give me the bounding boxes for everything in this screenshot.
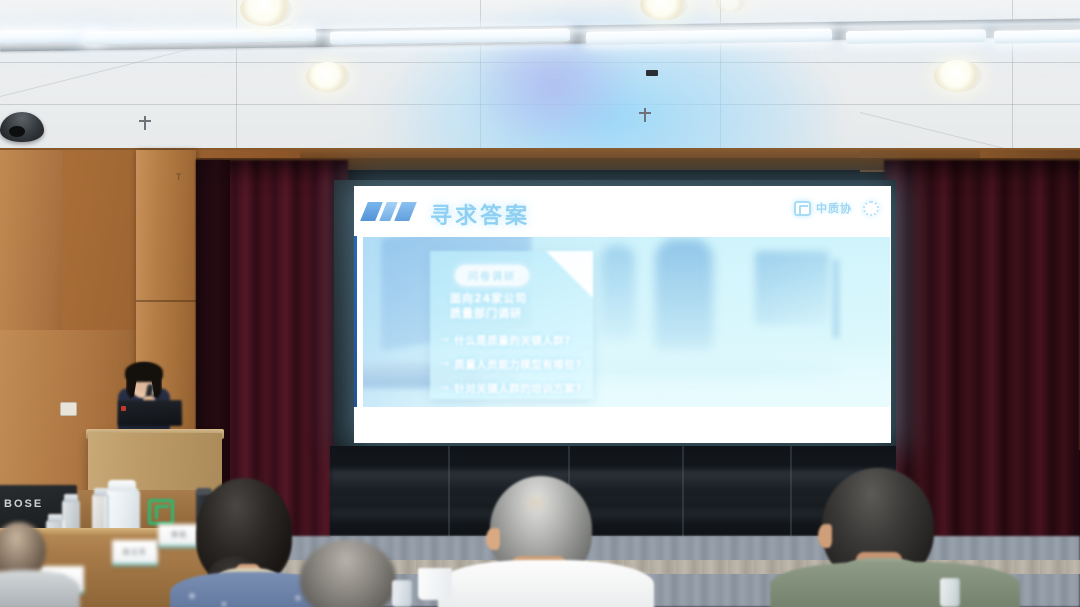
card-subtitle-line2: 质量部门调研 bbox=[450, 306, 580, 321]
ceiling-sprinkler bbox=[644, 108, 646, 122]
photo-person-b bbox=[601, 245, 635, 341]
arrow-right-icon: ⇒ bbox=[440, 359, 449, 370]
slide-brand-lockup: 中质协 bbox=[794, 200, 879, 216]
projected-slide: 寻求答案 中质协 问卷调研 bbox=[354, 186, 891, 443]
slide-photo-band: 问卷调研 面向24家公司 质量部门调研 ⇒ 什么是质量的关键人群? ⇒ 质量人员… bbox=[363, 237, 890, 410]
photo-person-a bbox=[655, 239, 713, 351]
slide-title: 寻求答案 bbox=[430, 198, 530, 230]
card-badge: 问卷调研 bbox=[455, 265, 529, 286]
ceiling bbox=[0, 0, 1080, 168]
photo-shelf bbox=[833, 259, 839, 339]
bottle-cap bbox=[64, 494, 78, 502]
audience-person-foreground-body bbox=[0, 570, 80, 607]
audience-man-center-body bbox=[438, 560, 654, 607]
list-item: ⇒ 质量人员能力模型有哪些? bbox=[440, 357, 592, 372]
paper-cup bbox=[418, 568, 452, 600]
bullet-text: 质量人员能力模型有哪些? bbox=[454, 357, 582, 372]
bottle-cap bbox=[94, 488, 107, 496]
slide-footer bbox=[354, 407, 891, 443]
downlight bbox=[240, 0, 292, 26]
photo-board bbox=[755, 251, 829, 325]
projector-glow-secondary bbox=[480, 0, 660, 140]
slide-content-card: 问卷调研 面向24家公司 质量部门调研 ⇒ 什么是质量的关键人群? ⇒ 质量人员… bbox=[430, 251, 593, 399]
arrow-right-icon: ⇒ bbox=[440, 383, 449, 394]
bullet-text: 什么是质量的关键人群? bbox=[454, 333, 571, 348]
green-square-logo bbox=[148, 499, 174, 525]
stage-reflection-lower bbox=[330, 510, 896, 524]
brand-text: 中质协 bbox=[816, 200, 852, 216]
ceiling-vent bbox=[646, 70, 658, 76]
audience-man-right-body bbox=[770, 562, 1020, 607]
ceiling-sprinkler bbox=[144, 116, 146, 130]
slash-accent-icon bbox=[364, 202, 418, 221]
name-card-text: 李伟 bbox=[171, 530, 187, 540]
security-camera-icon bbox=[0, 112, 44, 142]
podium-laptop bbox=[118, 400, 182, 426]
table-name-card: 赵立东 bbox=[112, 540, 158, 566]
stage-reflection bbox=[330, 470, 896, 492]
name-card-text: 赵立东 bbox=[123, 547, 147, 557]
frame-logo-icon bbox=[794, 201, 811, 216]
card-subtitle: 面向24家公司 质量部门调研 bbox=[450, 291, 580, 321]
audience-man-center-ear bbox=[486, 528, 500, 550]
stage-front-panel bbox=[330, 446, 896, 541]
downlight bbox=[306, 62, 350, 92]
dotted-circle-icon bbox=[863, 201, 879, 216]
audience-man-right-ear bbox=[818, 524, 832, 548]
water-bottle bbox=[392, 580, 412, 607]
downlight bbox=[934, 60, 982, 92]
bose-brand-label: BOSE bbox=[4, 498, 43, 510]
list-item: ⇒ 什么是质量的关键人群? bbox=[440, 333, 592, 348]
speaker-hair-top bbox=[125, 362, 163, 382]
laptop-logo bbox=[121, 406, 126, 411]
arrow-right-icon: ⇒ bbox=[440, 335, 449, 346]
water-bottle bbox=[940, 578, 960, 607]
card-subtitle-line1: 面向24家公司 bbox=[450, 291, 580, 306]
presentation-room-photo: T T 寻求答案 中质协 bbox=[0, 0, 1080, 607]
table-name-card: 李伟 bbox=[158, 524, 200, 548]
slide-header: 寻求答案 中质协 bbox=[354, 186, 891, 236]
water-jug-cap bbox=[108, 480, 136, 491]
list-item: ⇒ 针对关键人群的培训方案? bbox=[440, 381, 592, 396]
card-bullet-list: ⇒ 什么是质量的关键人群? ⇒ 质量人员能力模型有哪些? ⇒ 针对关键人群的培训… bbox=[440, 333, 592, 405]
bottle-cap bbox=[48, 514, 63, 522]
projection-screen-frame: 寻求答案 中质协 问卷调研 bbox=[334, 180, 896, 448]
bullet-text: 针对关键人群的培训方案? bbox=[454, 381, 582, 396]
audience-man-center-scalp bbox=[520, 492, 550, 514]
wall-outlet bbox=[60, 402, 77, 416]
